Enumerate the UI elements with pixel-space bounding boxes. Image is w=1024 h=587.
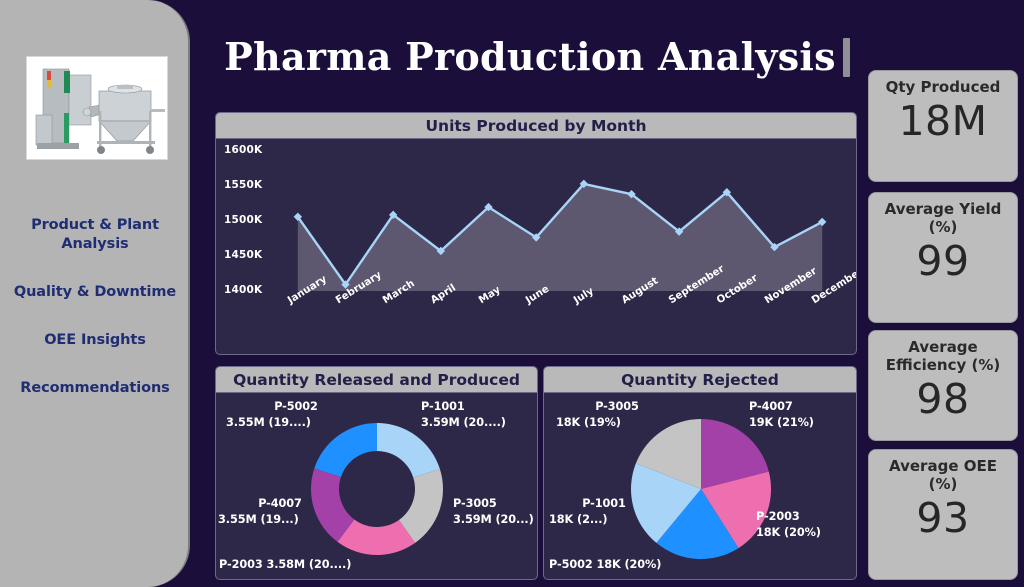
donut-label-p3005-value: 3.59M (20...): [453, 512, 534, 528]
kpi-qty-produced-title: Qty Produced: [869, 71, 1017, 96]
quantity-released-produced-title: Quantity Released and Produced: [216, 367, 537, 393]
y-tick-1400k: 1400K: [224, 284, 270, 296]
pie-label-p2003-value: 18K (20%): [756, 525, 821, 541]
title-accent-bar: [843, 38, 850, 77]
equipment-photo: [26, 56, 168, 160]
slice-p-5002[interactable]: [314, 423, 377, 477]
kpi-average-efficiency: Average Efficiency (%) 98: [868, 330, 1018, 441]
pie-label-p3005-name: P-3005: [556, 399, 678, 415]
pie-label-p3005-value: 18K (19%): [556, 415, 678, 431]
kpi-qty-produced: Qty Produced 18M: [868, 70, 1018, 182]
donut-chart-body: P-5002 3.55M (19....) P-1001 3.59M (20..…: [216, 393, 537, 580]
pie-chart-body: P-3005 18K (19%) P-4007 19K (21%) P-1001…: [544, 393, 856, 580]
kpi-average-yield-title: Average Yield (%): [869, 193, 1017, 236]
page-title: Pharma Production Analysis: [190, 22, 870, 92]
donut-label-p3005-name: P-3005: [453, 496, 534, 512]
quantity-rejected-title: Quantity Rejected: [544, 367, 856, 393]
pie-label-p2003-name: P-2003: [756, 509, 821, 525]
donut-label-p1001: P-1001 3.59M (20....): [421, 399, 506, 430]
quantity-released-produced-card: Quantity Released and Produced P-5002 3.…: [215, 366, 538, 580]
pie-label-p4007: P-4007 19K (21%): [749, 399, 814, 430]
kpi-average-yield-value: 99: [869, 236, 1017, 286]
pie-label-p1001: P-1001 18K (2...): [549, 496, 659, 527]
kpi-average-oee-value: 93: [869, 493, 1017, 543]
sidebar-item-recommendations[interactable]: Recommendations: [0, 361, 190, 409]
pie-label-p5002: P-5002 18K (20%): [549, 557, 661, 573]
units-produced-title: Units Produced by Month: [216, 113, 856, 139]
donut-label-p3005: P-3005 3.59M (20...): [453, 496, 534, 527]
sidebar-item-oee-insights[interactable]: OEE Insights: [0, 313, 190, 361]
y-tick-1550k: 1550K: [224, 179, 270, 191]
donut-label-p1001-value: 3.59M (20....): [421, 415, 506, 431]
kpi-average-yield: Average Yield (%) 99: [868, 192, 1018, 323]
quantity-rejected-card: Quantity Rejected P-3005 18K (19%) P-400…: [543, 366, 857, 580]
slice-p-1001[interactable]: [377, 423, 440, 477]
pie-label-p1001-name: P-1001: [549, 496, 659, 512]
kpi-average-oee-title: Average OEE (%): [869, 450, 1017, 493]
y-tick-1500k: 1500K: [224, 214, 270, 226]
line-series-plot: [274, 149, 846, 291]
y-tick-1600k: 1600K: [224, 144, 270, 156]
donut-label-p4007-value: 3.55M (19...): [218, 512, 342, 528]
pie-label-p4007-name: P-4007: [749, 399, 814, 415]
donut-label-p2003: P-2003 3.58M (20....): [219, 557, 351, 573]
units-produced-card: Units Produced by Month 1600K 1550K 1500…: [215, 112, 857, 355]
pie-label-p2003: P-2003 18K (20%): [756, 509, 821, 540]
dashboard-header: Pharma Production Analysis: [190, 22, 870, 92]
y-tick-1450k: 1450K: [224, 249, 270, 261]
kpi-average-efficiency-title: Average Efficiency (%): [869, 331, 1017, 374]
pie-label-p4007-value: 19K (21%): [749, 415, 814, 431]
donut-label-p5002-value: 3.55M (19....): [226, 415, 366, 431]
kpi-qty-produced-value: 18M: [869, 96, 1017, 146]
sidebar: Product & Plant Analysis Quality & Downt…: [0, 0, 190, 587]
kpi-average-oee: Average OEE (%) 93: [868, 449, 1018, 580]
donut-label-p5002: P-5002 3.55M (19....): [226, 399, 366, 430]
donut-label-p1001-name: P-1001: [421, 399, 506, 415]
sidebar-item-product-plant-analysis[interactable]: Product & Plant Analysis: [0, 205, 190, 265]
sidebar-item-quality-downtime[interactable]: Quality & Downtime: [0, 265, 190, 313]
donut-label-p4007: P-4007 3.55M (19...): [218, 496, 342, 527]
pie-label-p3005: P-3005 18K (19%): [556, 399, 678, 430]
sidebar-nav: Product & Plant Analysis Quality & Downt…: [0, 205, 190, 409]
pie-label-p1001-value: 18K (2...): [549, 512, 659, 528]
donut-label-p5002-name: P-5002: [226, 399, 366, 415]
donut-label-p4007-name: P-4007: [218, 496, 342, 512]
units-produced-chart: 1600K 1550K 1500K 1450K 1400K JanuaryFeb…: [216, 139, 856, 355]
kpi-average-efficiency-value: 98: [869, 374, 1017, 424]
blending-equipment-illustration: [27, 57, 168, 160]
